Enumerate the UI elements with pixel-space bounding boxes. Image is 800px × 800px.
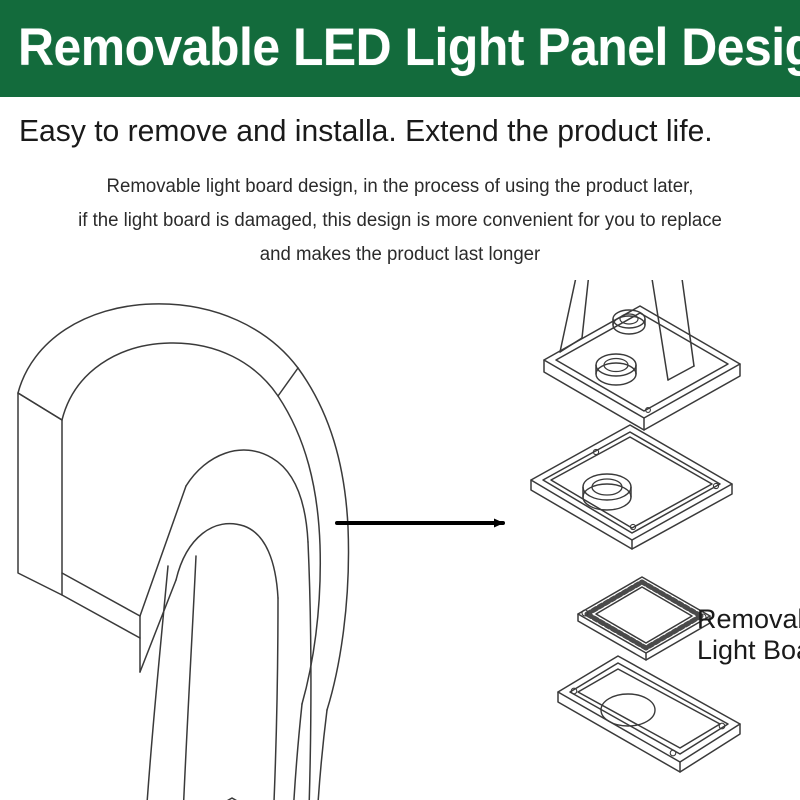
- body-line-3: and makes the product last longer: [8, 238, 792, 272]
- callout-removable-light-board: Removable Light Board: [697, 604, 800, 666]
- part-lamp-housing-base: [544, 280, 740, 430]
- body-line-1: Removable light board design, in the pro…: [8, 170, 792, 204]
- header-band: Removable LED Light Panel Design: [0, 0, 800, 97]
- body-line-2: if the light board is damaged, this desi…: [8, 204, 792, 238]
- page-title: Removable LED Light Panel Design: [18, 17, 800, 79]
- body-copy: Removable light board design, in the pro…: [0, 170, 800, 272]
- subtitle: Easy to remove and installa. Extend the …: [19, 112, 713, 150]
- product-infographic-page: Removable LED Light Panel Design Easy to…: [0, 0, 800, 800]
- part-bottom-diffuser-plate: [558, 656, 740, 772]
- product-illustration: [0, 280, 800, 800]
- callout-line-2: Light Board: [697, 635, 800, 666]
- callout-line-1: Removable: [697, 604, 800, 635]
- part-mounting-cover-plate: [531, 425, 732, 549]
- part-removable-led-light-board: [578, 577, 710, 660]
- assembled-wall-lamp: [18, 304, 360, 800]
- illustration-svg: [0, 280, 800, 800]
